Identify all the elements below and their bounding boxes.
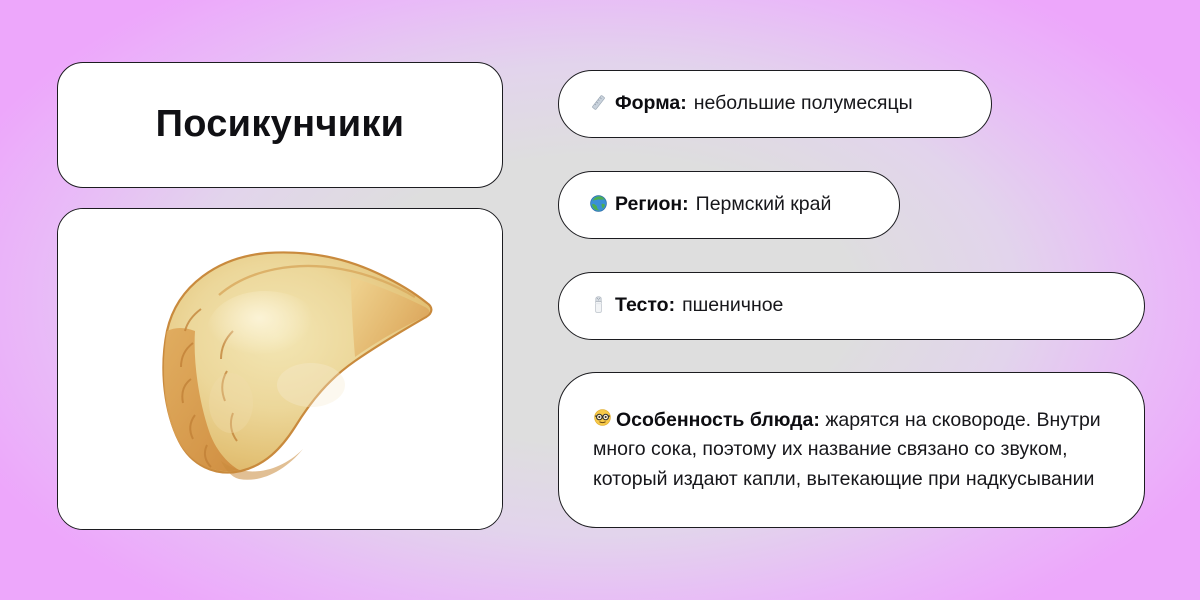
- fact-key: Регион:: [615, 195, 689, 215]
- fact-key: Форма:: [615, 94, 687, 114]
- fact-card-shape: Форма: небольшие полумесяцы: [558, 70, 992, 138]
- globe-icon: [589, 194, 608, 217]
- fried-pastry-photo: [115, 235, 445, 503]
- note-key: Особенность блюда:: [616, 409, 820, 431]
- fact-line: Тесто: пшеничное: [589, 295, 783, 318]
- salt-shaker-icon: [589, 295, 608, 318]
- fact-card-dough: Тесто: пшеничное: [558, 272, 1145, 340]
- pastry-highlight-3: [209, 373, 253, 433]
- note-paragraph: Особенность блюда: жарятся на сковороде.…: [593, 406, 1110, 495]
- fact-value: небольшие полумесяцы: [694, 94, 913, 114]
- slide-root: Посикунчики: [0, 0, 1200, 600]
- fact-value: пшеничное: [682, 296, 783, 316]
- nerd-face-icon: [593, 408, 612, 431]
- dish-title-card: Посикунчики: [57, 62, 503, 188]
- photo-stage: [58, 209, 502, 529]
- pastry-highlight-1: [207, 291, 323, 371]
- pastry-highlight-2: [277, 363, 345, 407]
- fact-line: Форма: небольшие полумесяцы: [589, 93, 913, 116]
- ruler-icon: [589, 93, 608, 116]
- fact-key: Тесто:: [615, 296, 675, 316]
- fact-value: Пермский край: [696, 195, 832, 215]
- fact-card-note: Особенность блюда: жарятся на сковороде.…: [558, 372, 1145, 528]
- page-title: Посикунчики: [156, 104, 405, 146]
- fact-line: Регион: Пермский край: [589, 194, 831, 217]
- fact-card-region: Регион: Пермский край: [558, 171, 900, 239]
- dish-photo-card: [57, 208, 503, 530]
